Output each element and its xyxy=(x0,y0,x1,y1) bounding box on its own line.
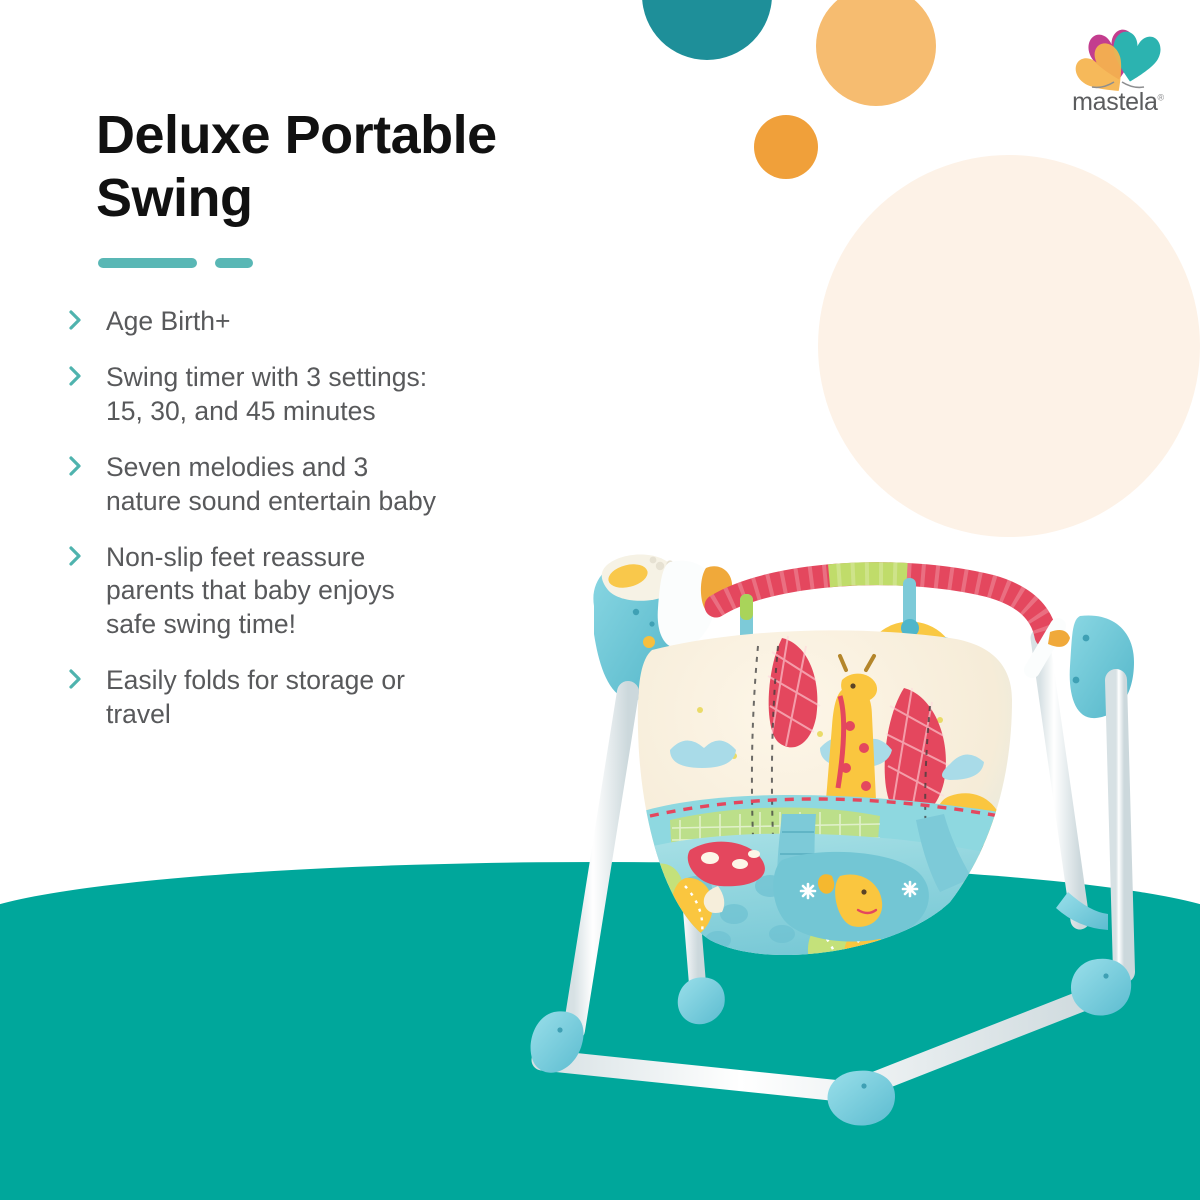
brand-logo: mastela® xyxy=(1048,14,1188,118)
title-divider xyxy=(98,258,253,268)
list-item: Non-slip feet reassure parents that baby… xyxy=(66,541,586,643)
list-item: Easily folds for storage or travel xyxy=(66,664,586,732)
whale-motif xyxy=(913,908,1022,978)
registered-trademark-symbol: ® xyxy=(1158,93,1164,103)
list-item-label: Swing timer with 3 settings: 15, 30, and… xyxy=(106,361,586,429)
chevron-right-icon xyxy=(68,545,84,567)
base-tube xyxy=(542,990,1110,1092)
chevron-right-icon xyxy=(68,309,84,331)
list-item-label: Non-slip feet reassure parents that baby… xyxy=(106,541,586,643)
brand-wordmark-text: mastela xyxy=(1072,88,1157,116)
toy-bar xyxy=(716,574,1046,636)
chevron-right-icon xyxy=(68,365,84,387)
list-item: Age Birth+ xyxy=(66,305,586,339)
list-item: Swing timer with 3 settings: 15, 30, and… xyxy=(66,361,586,429)
decorative-circle-orange-light xyxy=(816,0,936,106)
page-title: Deluxe Portable Swing xyxy=(96,104,656,229)
feature-list: Age Birth+ Swing timer with 3 settings: … xyxy=(66,305,586,754)
list-item-label: Seven melodies and 3 nature sound entert… xyxy=(106,451,586,519)
brand-wordmark: mastela® xyxy=(1048,88,1188,117)
decorative-circle-orange-small xyxy=(754,115,818,179)
list-item: Seven melodies and 3 nature sound entert… xyxy=(66,451,586,519)
list-item-label: Age Birth+ xyxy=(106,305,586,339)
front-legs xyxy=(574,692,628,1030)
product-image xyxy=(520,520,1200,1200)
decorative-circle-cream xyxy=(818,155,1200,537)
non-slip-feet xyxy=(531,959,1132,1126)
decorative-circle-teal xyxy=(642,0,772,60)
list-item-label: Easily folds for storage or travel xyxy=(106,664,586,732)
butterfly-hearts-logo-icon xyxy=(1048,14,1188,94)
title-divider-short-dash xyxy=(215,258,253,268)
chevron-right-icon xyxy=(68,668,84,690)
title-divider-long-dash xyxy=(98,258,197,268)
crotch-pad xyxy=(773,852,929,942)
chevron-right-icon xyxy=(68,455,84,477)
product-infographic: mastela® Deluxe Portable Swing Age Birth… xyxy=(0,0,1200,1200)
